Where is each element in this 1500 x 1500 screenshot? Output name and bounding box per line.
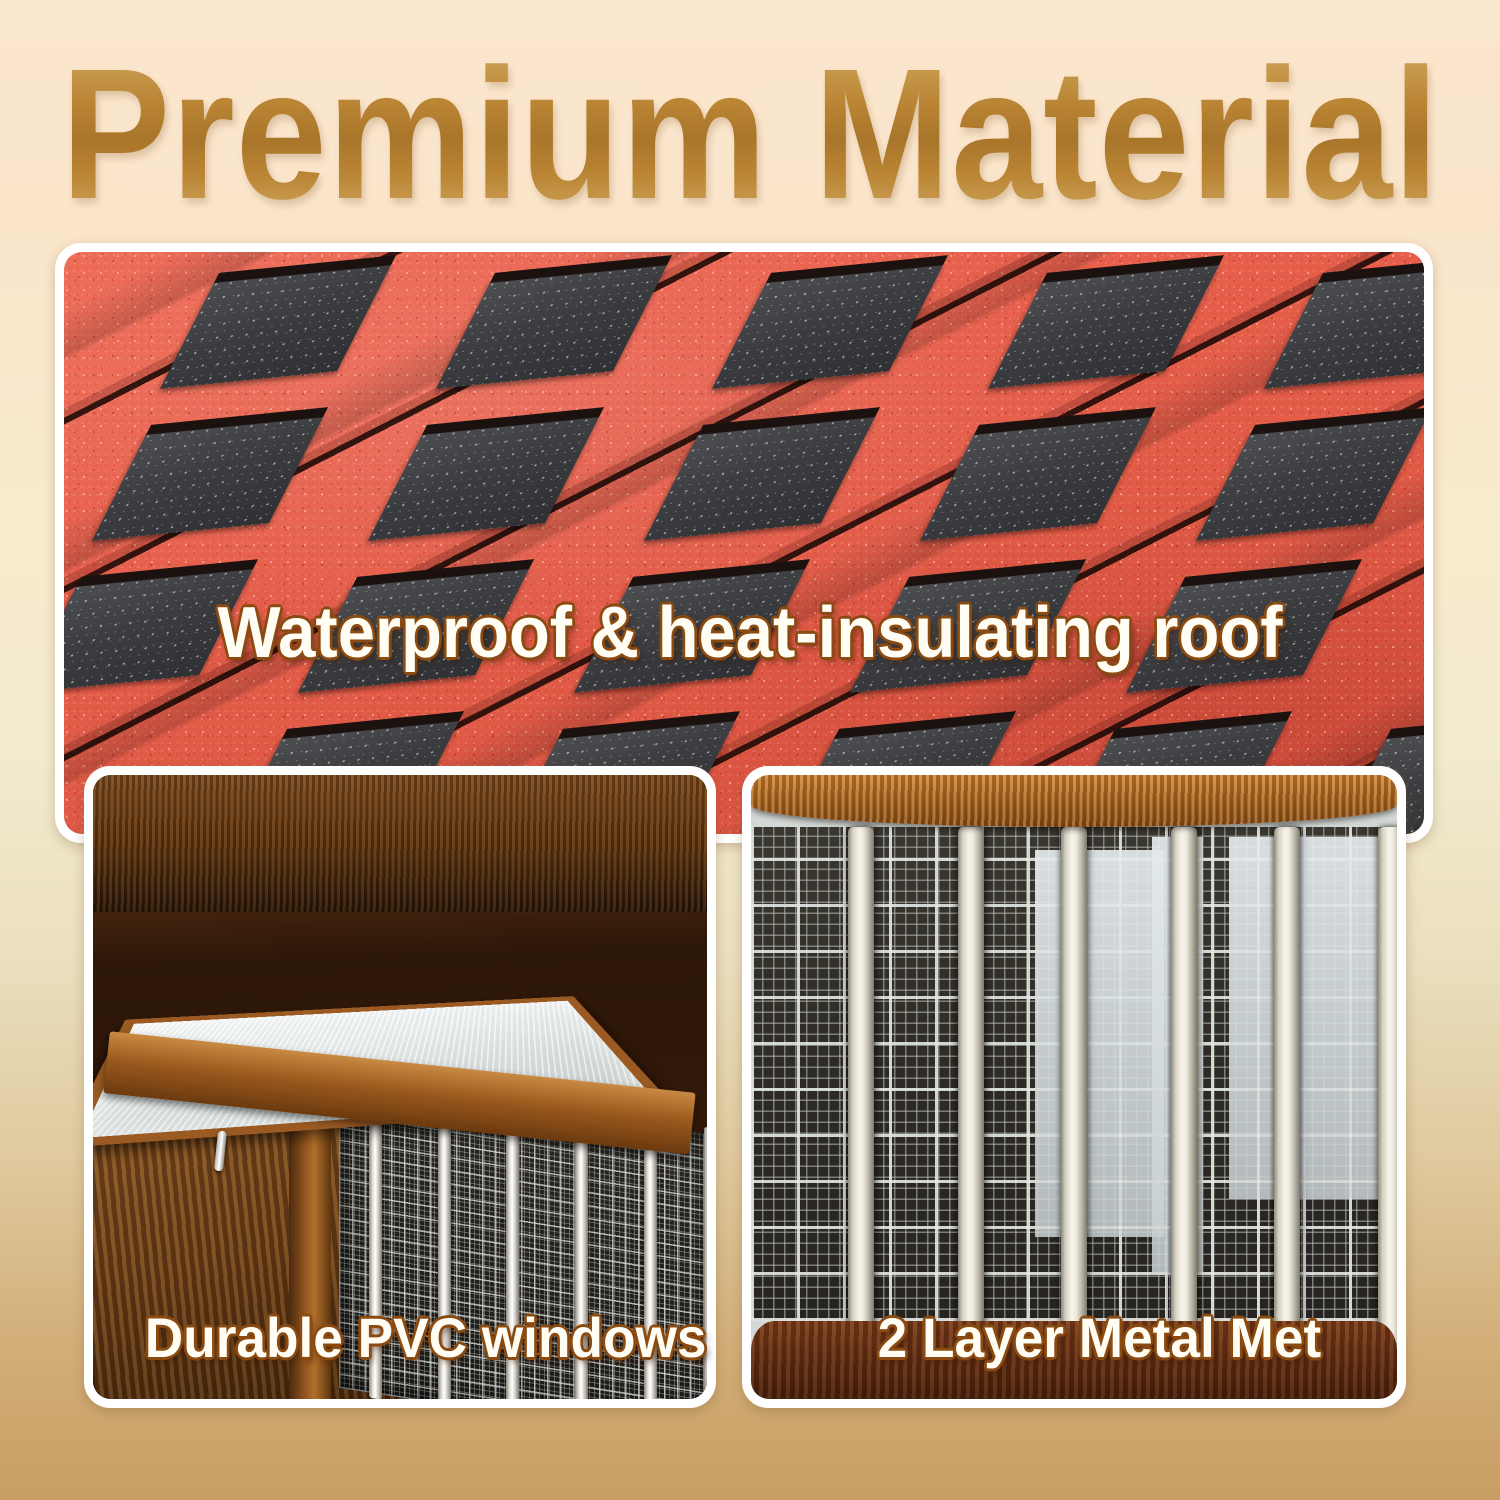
shingle-tab bbox=[1264, 263, 1424, 389]
caption-mesh: 2 Layer Metal Met bbox=[878, 1305, 1322, 1370]
shingle-tab bbox=[1196, 415, 1424, 541]
shingle-tab bbox=[92, 415, 324, 541]
metal-bar bbox=[1378, 827, 1397, 1343]
mesh-vertical-bars bbox=[751, 827, 1397, 1343]
panel-roof bbox=[55, 243, 1433, 843]
coop-top-wood-rail bbox=[751, 775, 1397, 827]
caption-roof: Waterproof & heat-insulating roof bbox=[217, 592, 1282, 674]
shingle-tab bbox=[920, 415, 1152, 541]
metal-bar bbox=[1274, 827, 1300, 1343]
page-title-container: Premium Material bbox=[0, 42, 1500, 227]
roof-dark-tabs bbox=[64, 252, 1424, 834]
shingle-tab bbox=[712, 263, 944, 389]
shingle-tab bbox=[644, 415, 876, 541]
metal-bar bbox=[848, 827, 874, 1343]
metal-bar bbox=[958, 827, 984, 1343]
metal-bar bbox=[1171, 827, 1197, 1343]
shingle-tab bbox=[436, 263, 668, 389]
roof-photo bbox=[64, 252, 1424, 834]
caption-window: Durable PVC windows bbox=[145, 1305, 707, 1370]
shingle-tab bbox=[368, 415, 600, 541]
coop-wall-upper bbox=[93, 775, 707, 912]
shingle-tab bbox=[160, 263, 392, 389]
page-title: Premium Material bbox=[61, 42, 1440, 228]
metal-bar bbox=[1061, 827, 1087, 1343]
shingle-tab bbox=[988, 263, 1220, 389]
